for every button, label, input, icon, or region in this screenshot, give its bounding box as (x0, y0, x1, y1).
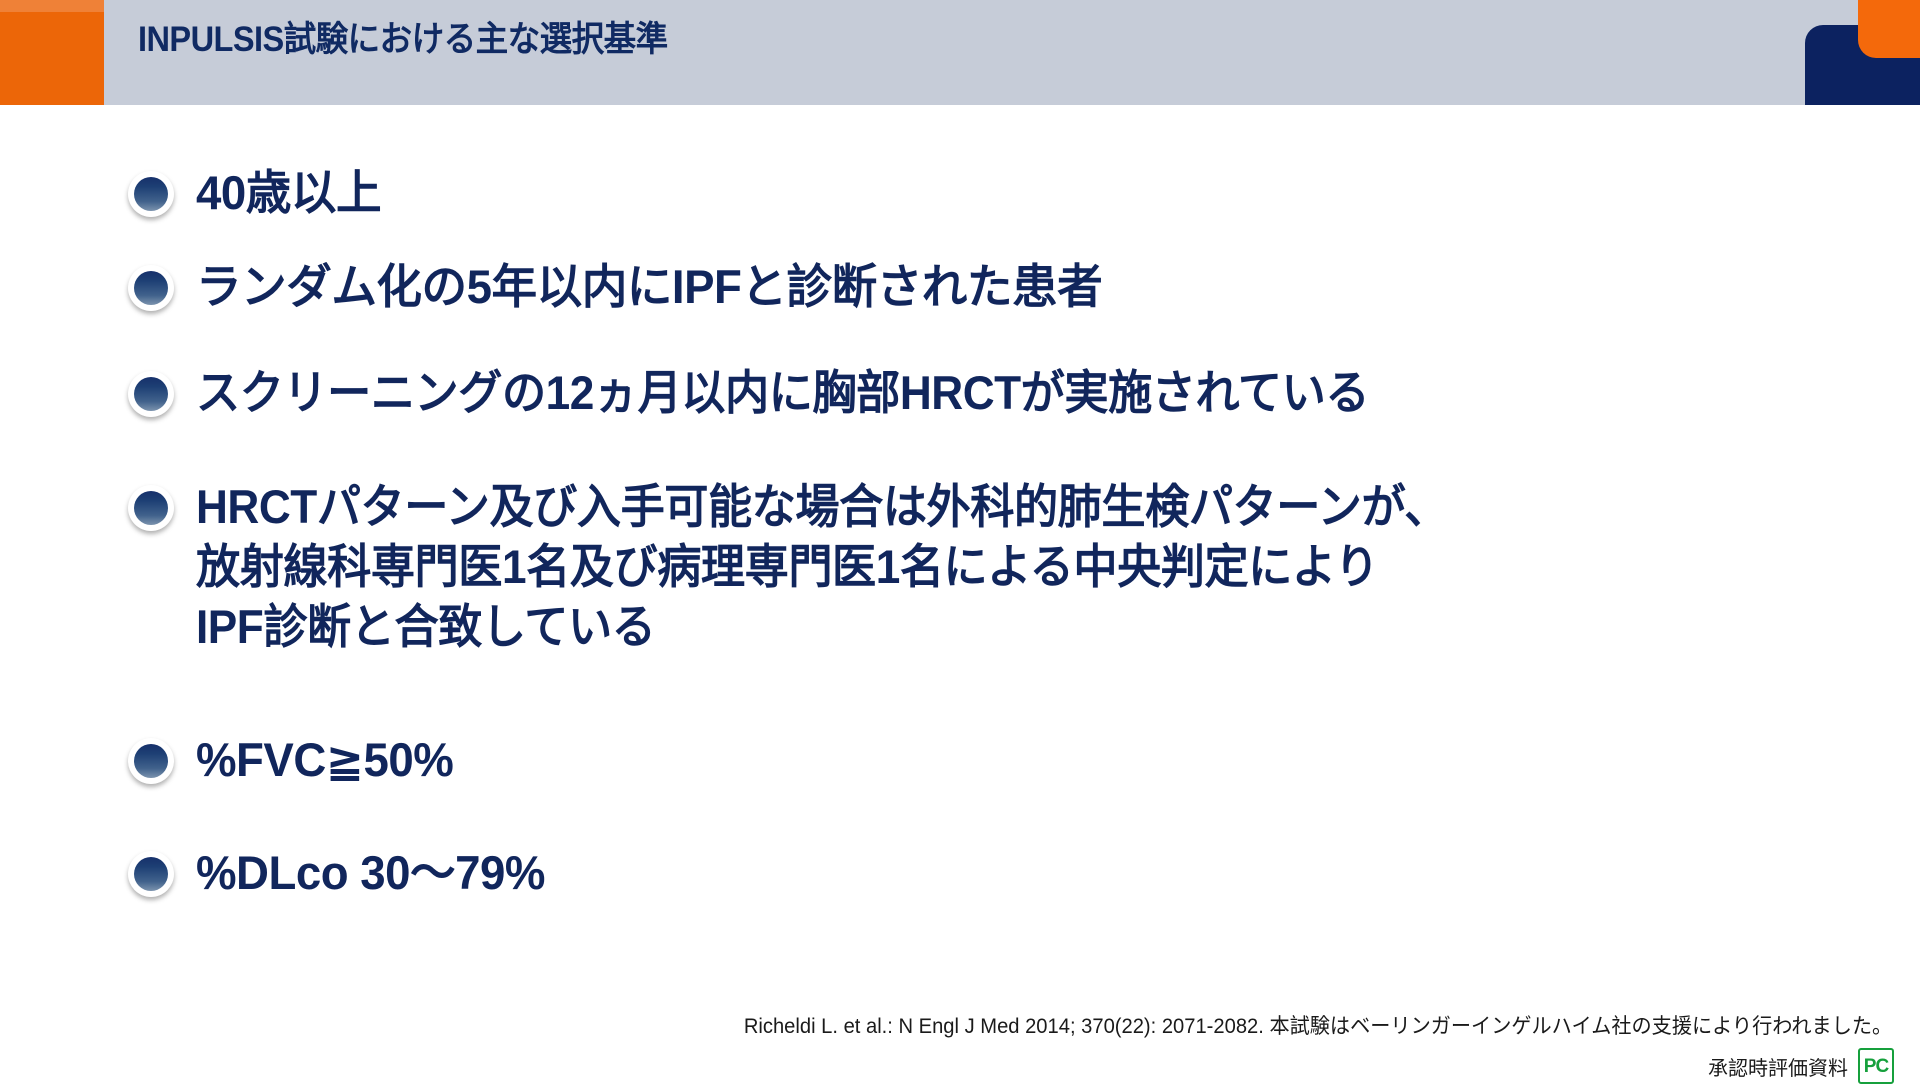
list-item-label: %FVC≧50% (196, 730, 453, 790)
list-item-label: ランダム化の5年以内にIPFと診断された患者 (196, 257, 1102, 317)
list-item-label: HRCTパターン及び入手可能な場合は外科的肺生検パターンが、 放射線科専門医1名… (196, 477, 1448, 657)
bullet-sphere-icon (128, 851, 174, 897)
footer-approval-group: 承認時評価資料 PC (1708, 1048, 1894, 1084)
bullet-sphere-icon (128, 371, 174, 417)
footer-citation: Richeldi L. et al.: N Engl J Med 2014; 3… (744, 1010, 1892, 1040)
list-item: スクリーニングの12ヵ月以内に胸部HRCTが実施されている (128, 363, 1444, 423)
header-orange-accent-bar (0, 0, 104, 105)
slide-header: INPULSIS試験における主な選択基準 (0, 0, 1920, 105)
list-item-label: 40歳以上 (196, 163, 381, 223)
footer-approval-label: 承認時評価資料 (1708, 1052, 1848, 1081)
bullet-sphere-icon (128, 485, 174, 531)
list-item-label: スクリーニングの12ヵ月以内に胸部HRCTが実施されている (196, 363, 1369, 423)
bullet-sphere-icon (128, 265, 174, 311)
list-item: %FVC≧50% (128, 730, 461, 790)
bullet-sphere-icon (128, 171, 174, 217)
page-title: INPULSIS試験における主な選択基準 (138, 22, 668, 57)
list-item: ランダム化の5年以内にIPFと診断された患者 (128, 257, 1130, 317)
header-decoration-orange-shape (1858, 0, 1920, 58)
bullet-list: 40歳以上 ランダム化の5年以内にIPFと診断された患者 スクリーニングの12ヵ… (0, 105, 1920, 985)
pc-logo-icon: PC (1858, 1048, 1894, 1084)
list-item: %DLco 30〜79% (128, 843, 556, 903)
list-item: 40歳以上 (128, 163, 387, 223)
bullet-sphere-icon (128, 738, 174, 784)
header-orange-accent-bar-highlight (0, 0, 104, 12)
list-item-label: %DLco 30〜79% (196, 843, 545, 903)
slide-footer: Richeldi L. et al.: N Engl J Med 2014; 3… (0, 1010, 1920, 1080)
list-item: HRCTパターン及び入手可能な場合は外科的肺生検パターンが、 放射線科専門医1名… (128, 477, 1528, 657)
